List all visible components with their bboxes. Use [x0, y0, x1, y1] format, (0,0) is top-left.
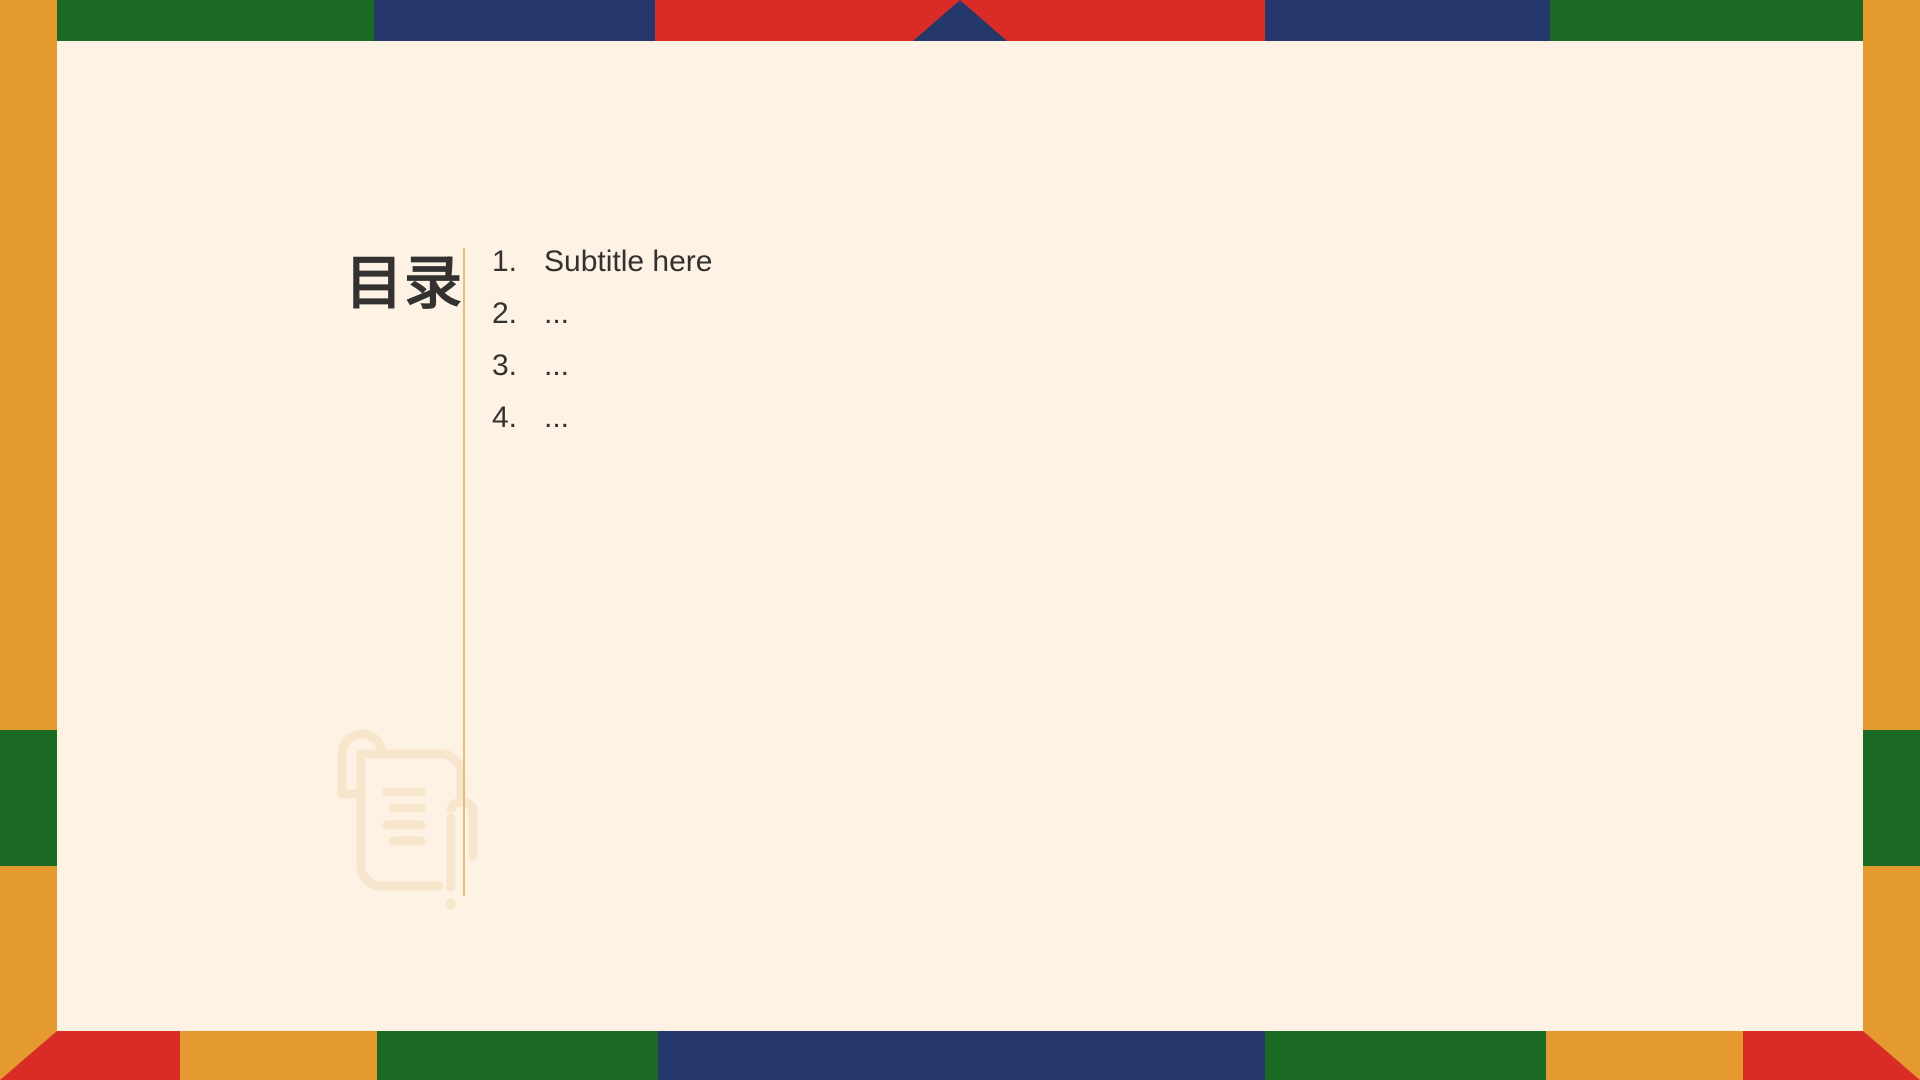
bottom-segment-green-right	[1265, 1031, 1546, 1080]
bottom-border-band	[0, 1031, 1920, 1080]
top-border-band	[0, 0, 1920, 41]
bottom-segment-green-left	[377, 1031, 658, 1080]
list-item[interactable]: 3. ...	[492, 340, 712, 392]
table-of-contents-list: 1. Subtitle here 2. ... 3. ... 4. ...	[492, 236, 712, 444]
left-border-green-segment	[0, 730, 57, 866]
list-item[interactable]: 1. Subtitle here	[492, 236, 712, 288]
right-border-band	[1863, 41, 1920, 1031]
list-item[interactable]: 4. ...	[492, 392, 712, 444]
bottom-left-corner-cut	[0, 1031, 57, 1080]
top-segment-green-right	[1550, 0, 1863, 41]
list-item-label: ...	[544, 340, 569, 392]
list-item-label: ...	[544, 392, 569, 444]
page-title: 目录	[312, 251, 463, 318]
slide-content-area: 目录 1. Subtitle here 2. ... 3. ... 4. ...	[57, 41, 1863, 1031]
top-triangle-accent-icon	[913, 0, 1007, 41]
list-item[interactable]: 2. ...	[492, 288, 712, 340]
list-item-number: 3.	[492, 340, 544, 392]
list-item-number: 1.	[492, 236, 544, 288]
slide-canvas: 目录 1. Subtitle here 2. ... 3. ... 4. ...	[0, 0, 1920, 1080]
top-segment-orange-left	[0, 0, 57, 41]
top-segment-orange-right	[1863, 0, 1920, 41]
bottom-segment-navy-center	[658, 1031, 1265, 1080]
bottom-right-corner-cut	[1863, 1031, 1920, 1080]
top-segment-green-left	[57, 0, 374, 41]
list-item-number: 2.	[492, 288, 544, 340]
right-border-green-segment	[1863, 730, 1920, 866]
bottom-segment-orange-right	[1546, 1031, 1743, 1080]
left-border-band	[0, 41, 57, 1031]
vertical-divider	[463, 248, 465, 896]
list-item-label: Subtitle here	[544, 236, 712, 288]
top-segment-navy-left	[374, 0, 655, 41]
top-segment-navy-right	[1265, 0, 1550, 41]
bottom-segment-orange-left	[180, 1031, 377, 1080]
list-item-number: 4.	[492, 392, 544, 444]
scroll-document-icon	[299, 691, 489, 921]
list-item-label: ...	[544, 288, 569, 340]
